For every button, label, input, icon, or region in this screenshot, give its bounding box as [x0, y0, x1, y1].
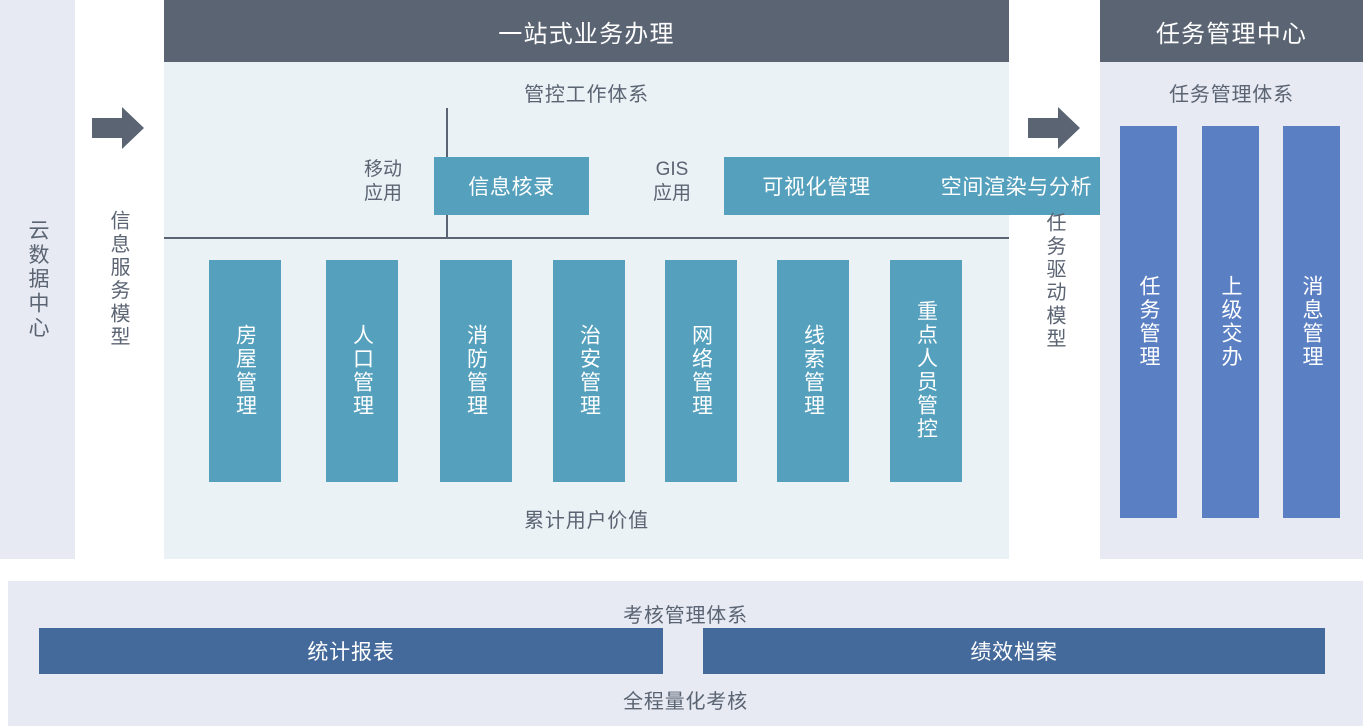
arrow-right-icon	[1028, 107, 1080, 149]
full-process-quantified-assessment-label: 全程量化考核	[8, 685, 1363, 714]
info-service-model-label: 信息服务模型	[98, 160, 138, 400]
task-column-task-management[interactable]: 任务管理	[1120, 126, 1177, 518]
module-column-housing[interactable]: 房屋管理	[209, 260, 281, 482]
task-column-message-management[interactable]: 消息管理	[1283, 126, 1340, 518]
mobile-app-group-label: 移动 应用	[350, 158, 416, 206]
module-column-fire-safety[interactable]: 消防管理	[440, 260, 512, 482]
gis-app-group-label: GIS 应用	[642, 158, 702, 206]
accumulated-user-value-label: 累计用户价值	[164, 504, 1009, 533]
task-column-superior-assignment[interactable]: 上级交办	[1202, 126, 1259, 518]
module-column-network[interactable]: 网络管理	[665, 260, 737, 482]
cloud-data-center-label: 云数据中心	[0, 0, 75, 559]
task-management-center-panel: 任务管理中心 任务管理体系 任务管理 上级交办 消息管理	[1100, 0, 1363, 559]
module-column-key-personnel[interactable]: 重点人员管控	[890, 260, 962, 482]
module-column-clue[interactable]: 线索管理	[777, 260, 849, 482]
app-row-rule	[164, 237, 1009, 239]
center-panel-header: 一站式业务办理	[164, 0, 1009, 62]
task-panel-header: 任务管理中心	[1100, 0, 1363, 62]
control-work-system-label: 管控工作体系	[164, 78, 1009, 107]
app-chip-spatial-rendering-analysis[interactable]: 空间渲染与分析	[903, 157, 1130, 215]
task-panel-title: 任务管理中心	[1156, 14, 1307, 49]
center-panel-title: 一站式业务办理	[498, 14, 674, 49]
app-chip-visual-management[interactable]: 可视化管理	[724, 157, 909, 215]
task-drive-model-label: 任务驱动模型	[1034, 162, 1074, 402]
assessment-management-panel: 考核管理体系 统计报表 绩效档案 全程量化考核	[8, 581, 1363, 726]
assessment-bar-statistical-report[interactable]: 统计报表	[39, 628, 663, 674]
module-column-population[interactable]: 人口管理	[326, 260, 398, 482]
app-chip-information-entry[interactable]: 信息核录	[434, 157, 589, 215]
assessment-bar-performance-record[interactable]: 绩效档案	[703, 628, 1325, 674]
cloud-data-center-panel: 云数据中心	[0, 0, 75, 559]
one-stop-service-panel: 一站式业务办理 管控工作体系 移动 应用 GIS 应用 信息核录 可视化管理 空…	[164, 0, 1009, 559]
architecture-diagram: 云数据中心 信息服务模型 一站式业务办理 管控工作体系 移动 应用 GIS 应用…	[0, 0, 1363, 726]
task-management-system-label: 任务管理体系	[1100, 78, 1363, 107]
assessment-system-title: 考核管理体系	[8, 599, 1363, 628]
module-column-public-security[interactable]: 治安管理	[553, 260, 625, 482]
arrow-right-icon	[92, 107, 144, 149]
